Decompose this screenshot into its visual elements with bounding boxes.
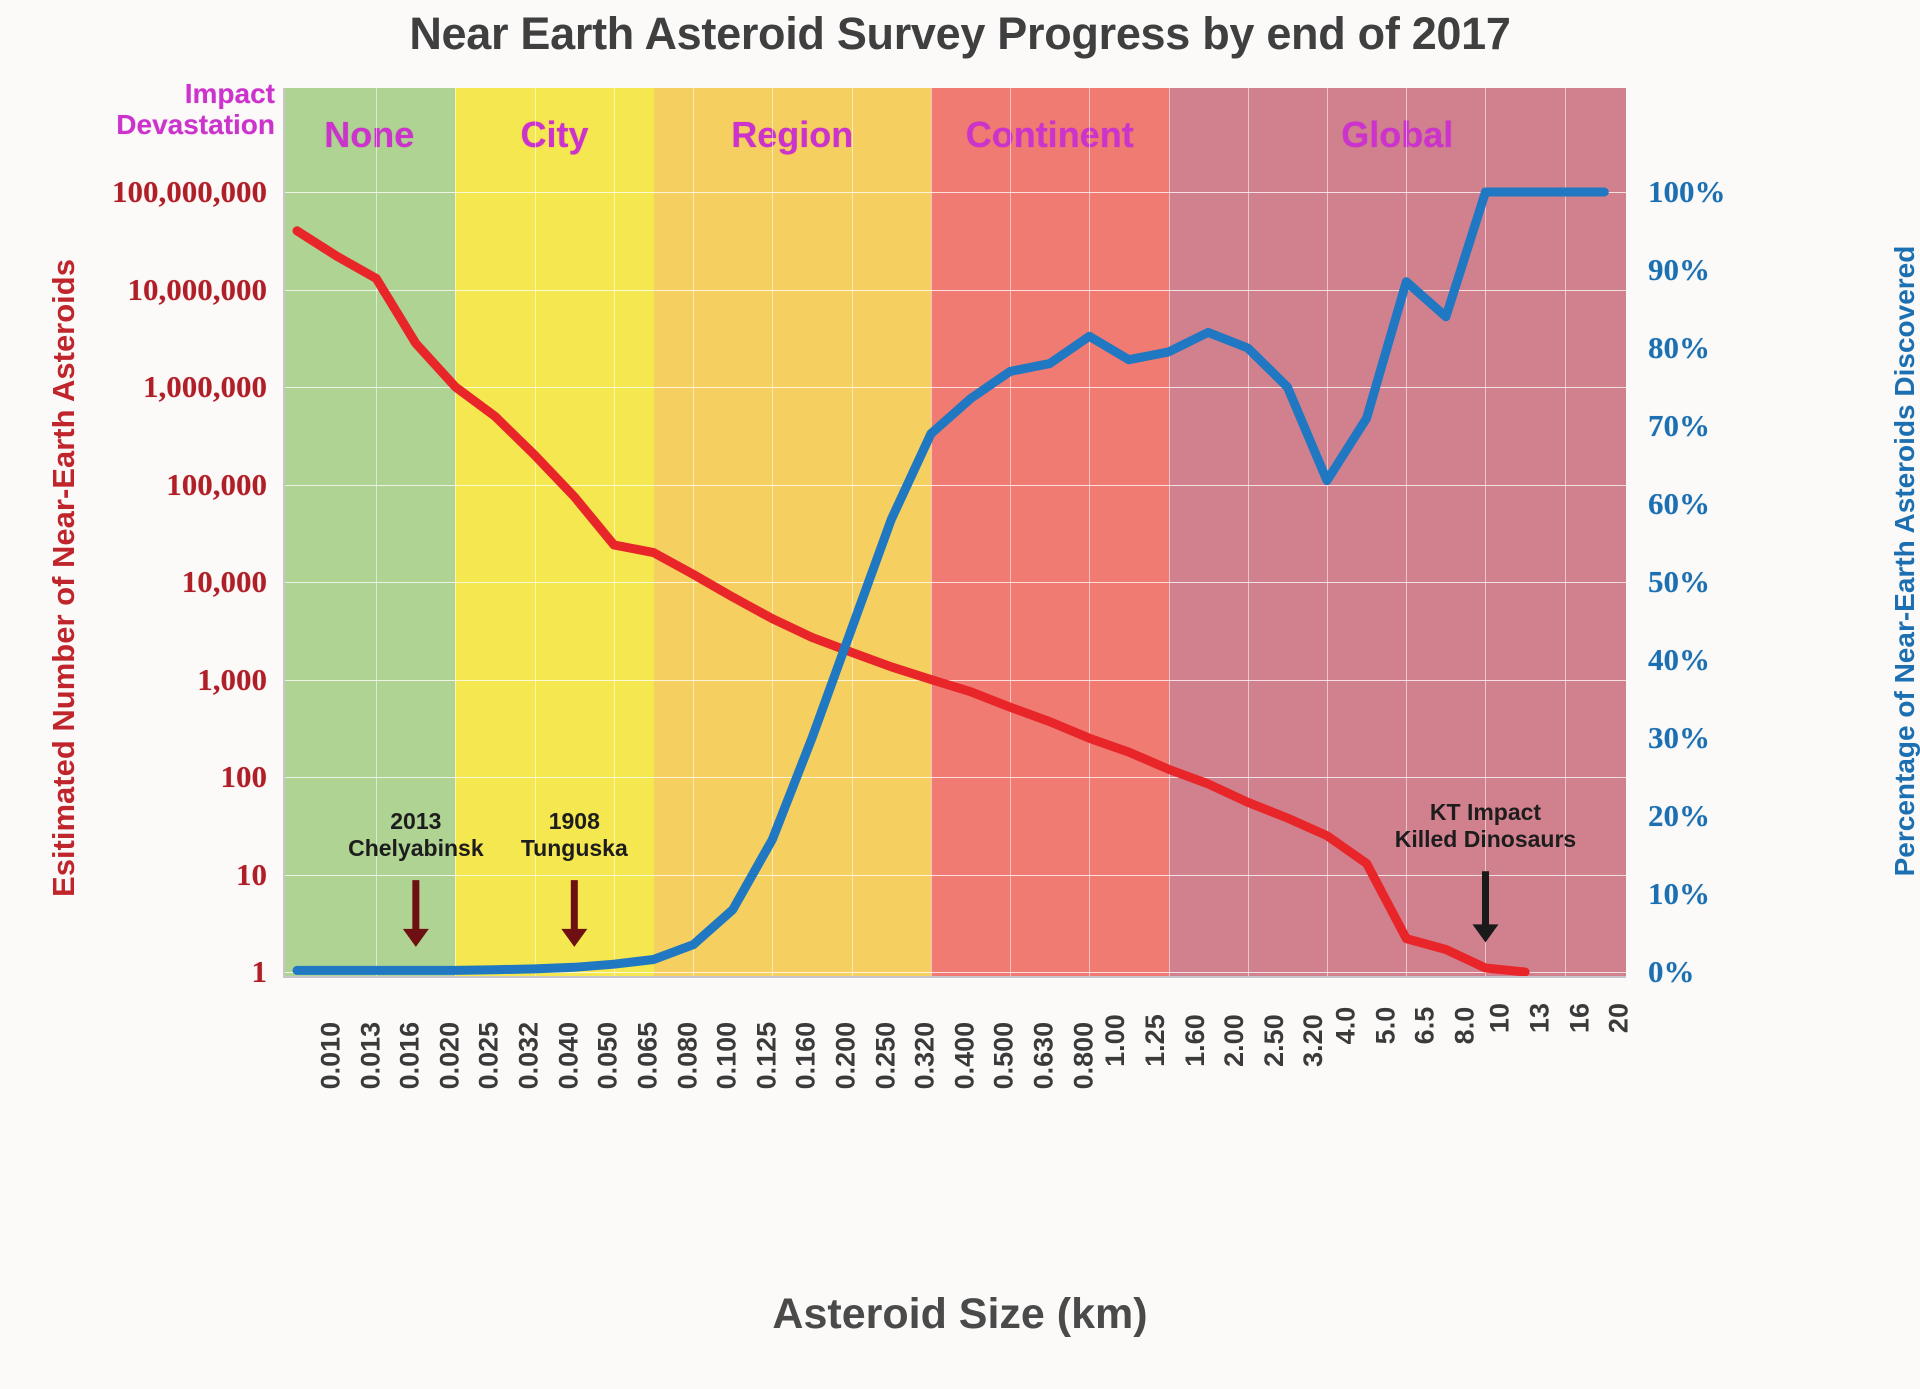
right-axis-tick: 100% xyxy=(1648,174,1726,210)
right-axis-tick-labels: 100%90%80%70%60%50%40%30%20%10%0% xyxy=(1640,88,1790,978)
annotation-arrow xyxy=(561,880,587,947)
annotation-kt-impact: KT ImpactKilled Dinosaurs xyxy=(1335,799,1635,852)
x-axis-tick: 0.020 xyxy=(434,1022,465,1090)
right-axis-tick: 70% xyxy=(1648,408,1710,444)
right-axis-title: Percentage of Near-Earth Asteroids Disco… xyxy=(1889,166,1920,956)
x-axis-tick: 3.20 xyxy=(1298,1014,1329,1067)
x-axis-tick: 0.800 xyxy=(1068,1022,1099,1090)
x-axis-tick: 0.320 xyxy=(910,1022,941,1090)
x-axis-tick: 1.00 xyxy=(1100,1014,1131,1067)
plot-area: NoneCityRegionContinentGlobal 2013Chelya… xyxy=(283,88,1626,978)
x-axis-tick: 1.25 xyxy=(1140,1014,1171,1067)
x-axis-tick: 10 xyxy=(1485,1003,1516,1033)
left-axis-tick: 1,000 xyxy=(197,662,267,698)
left-axis-tick: 10,000 xyxy=(182,564,267,600)
left-axis-title: Esitimated Number of Near-Earth Asteroid… xyxy=(46,198,82,958)
x-axis-tick: 0.065 xyxy=(632,1022,663,1090)
annotation-line1: 1908 xyxy=(424,808,724,835)
x-axis-tick: 0.100 xyxy=(711,1022,742,1090)
left-axis-tick: 100 xyxy=(221,759,268,795)
right-axis-tick: 80% xyxy=(1648,330,1710,366)
left-axis-tick: 100,000 xyxy=(166,467,267,503)
x-axis-tick: 0.032 xyxy=(513,1022,544,1090)
annotation-arrow-head xyxy=(1472,924,1498,942)
annotation-arrow-head xyxy=(561,929,587,947)
left-axis-tick: 1,000,000 xyxy=(143,369,267,405)
annotation-arrow xyxy=(403,880,429,947)
x-axis-tick: 8.0 xyxy=(1449,1007,1480,1045)
right-axis-tick: 50% xyxy=(1648,564,1710,600)
x-axis-tick: 0.160 xyxy=(791,1022,822,1090)
x-axis-tick: 0.500 xyxy=(989,1022,1020,1090)
x-axis-tick: 13 xyxy=(1525,1003,1556,1033)
right-axis-tick: 20% xyxy=(1648,798,1710,834)
x-axis-tick: 0.010 xyxy=(315,1022,346,1090)
x-axis-tick-labels: 0.0100.0130.0160.0200.0250.0320.0400.050… xyxy=(283,988,1626,1158)
chart-root: Near Earth Asteroid Survey Progress by e… xyxy=(0,0,1920,1389)
right-axis-tick: 60% xyxy=(1648,486,1710,522)
x-axis-tick: 2.50 xyxy=(1259,1014,1290,1067)
x-axis-tick: 0.050 xyxy=(593,1022,624,1090)
x-axis-tick: 0.125 xyxy=(751,1022,782,1090)
x-axis-tick: 0.080 xyxy=(672,1022,703,1090)
page-title: Near Earth Asteroid Survey Progress by e… xyxy=(0,8,1920,60)
x-axis-tick: 0.630 xyxy=(1028,1022,1059,1090)
annotation-line1: KT Impact xyxy=(1335,799,1635,826)
x-axis-tick: 0.040 xyxy=(553,1022,584,1090)
x-axis-title: Asteroid Size (km) xyxy=(0,1290,1920,1339)
annotation-tunguska: 1908Tunguska xyxy=(424,808,724,861)
right-axis-tick: 30% xyxy=(1648,720,1710,756)
right-axis-tick: 90% xyxy=(1648,252,1710,288)
right-axis-tick: 0% xyxy=(1648,954,1695,990)
right-axis-tick: 10% xyxy=(1648,876,1710,912)
x-axis-tick: 16 xyxy=(1564,1003,1595,1033)
x-axis-tick: 20 xyxy=(1604,1003,1635,1033)
x-axis-tick: 2.00 xyxy=(1219,1014,1250,1067)
annotation-line2: Killed Dinosaurs xyxy=(1335,826,1635,853)
annotation-arrow xyxy=(1472,871,1498,942)
x-axis-tick: 4.0 xyxy=(1330,1007,1361,1045)
annotation-line2: Tunguska xyxy=(424,835,724,862)
x-axis-tick: 0.400 xyxy=(949,1022,980,1090)
x-axis-tick: 0.013 xyxy=(355,1022,386,1090)
x-axis-tick: 0.025 xyxy=(474,1022,505,1090)
x-axis-tick: 0.016 xyxy=(395,1022,426,1090)
x-axis-tick: 5.0 xyxy=(1370,1007,1401,1045)
x-axis-tick: 0.250 xyxy=(870,1022,901,1090)
left-axis-tick: 10,000,000 xyxy=(128,272,268,308)
left-axis-tick: 10 xyxy=(236,857,267,893)
left-axis-tick: 1 xyxy=(252,954,268,990)
x-axis-tick: 6.5 xyxy=(1410,1007,1441,1045)
left-axis-tick: 100,000,000 xyxy=(112,174,267,210)
x-axis-tick: 1.60 xyxy=(1179,1014,1210,1067)
right-axis-tick: 40% xyxy=(1648,642,1710,678)
annotation-arrow-head xyxy=(403,929,429,947)
x-axis-tick: 0.200 xyxy=(830,1022,861,1090)
